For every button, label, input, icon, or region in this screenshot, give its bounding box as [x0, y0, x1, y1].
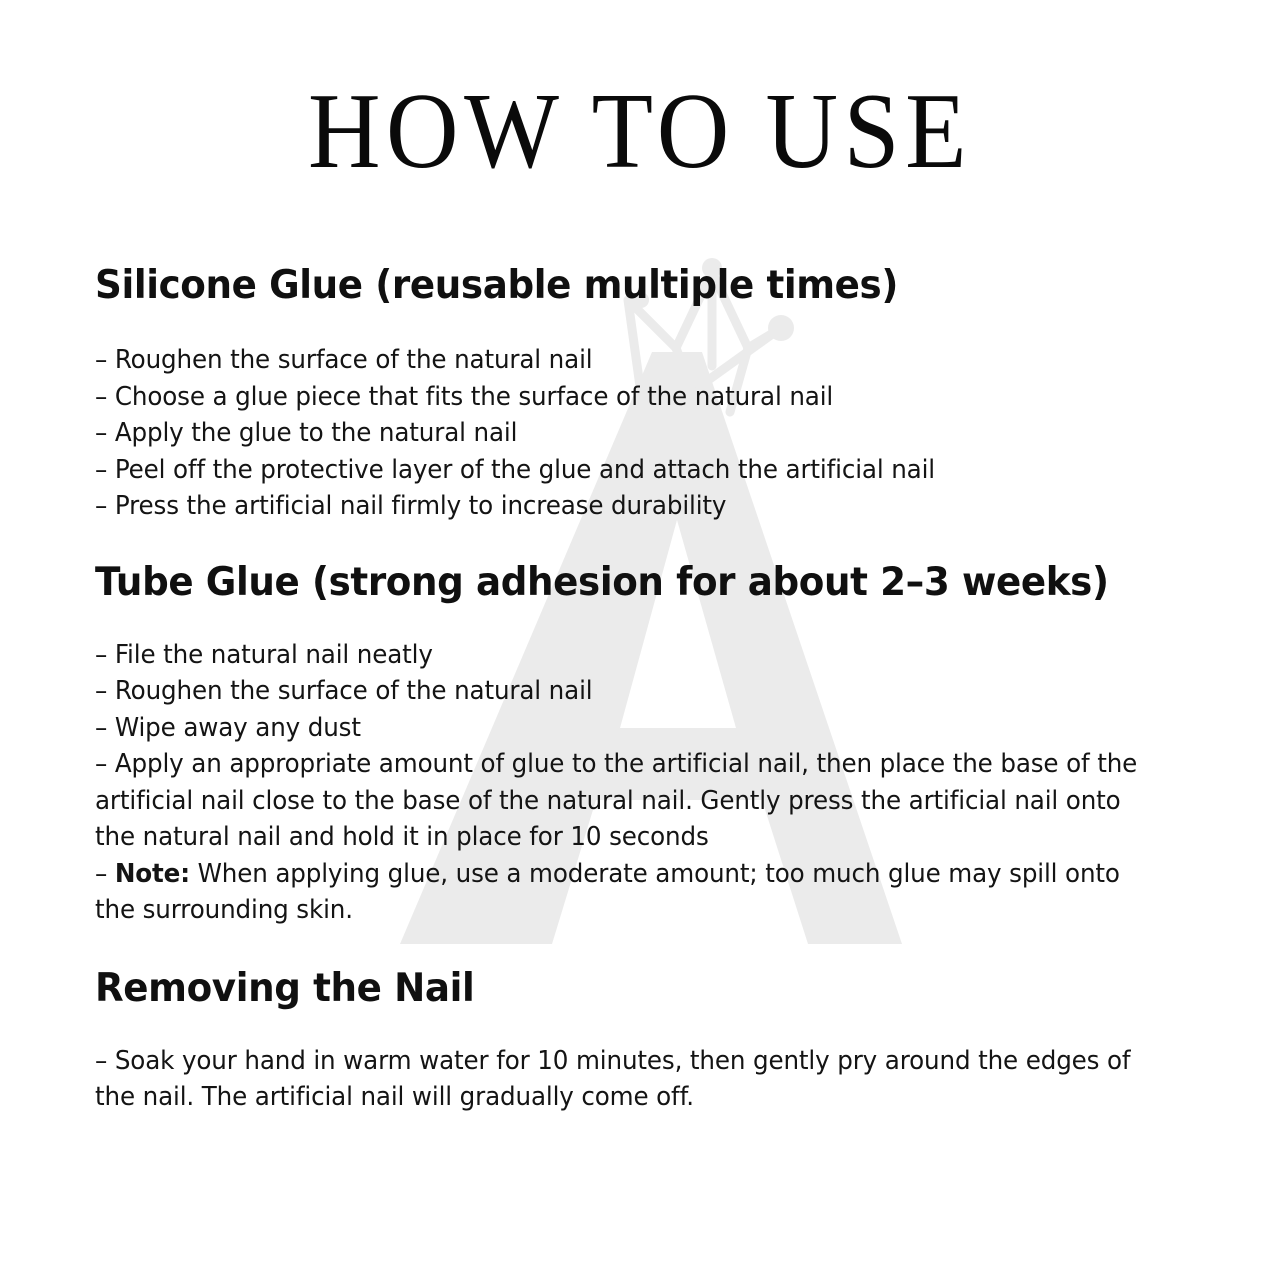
list-item: – Wipe away any dust: [95, 710, 1147, 747]
section-heading-removing-the-nail: Removing the Nail: [95, 965, 1136, 1013]
list-item: – Apply the glue to the natural nail: [95, 415, 1147, 452]
list-silicone-glue: – Roughen the surface of the natural nai…: [95, 342, 1147, 525]
spacer: [95, 607, 1185, 637]
spacer: [95, 525, 1185, 559]
list-item: – Peel off the protective layer of the g…: [95, 452, 1147, 489]
spacer: [95, 929, 1185, 965]
note-label: Note:: [115, 859, 190, 889]
section-heading-tube-glue: Tube Glue (strong adhesion for about 2–3…: [95, 559, 1136, 607]
list-item: – Roughen the surface of the natural nai…: [95, 673, 1147, 710]
list-item: – Soak your hand in warm water for 10 mi…: [95, 1043, 1147, 1116]
note-text: When applying glue, use a moderate amoun…: [95, 859, 1120, 926]
list-tube-glue: – File the natural nail neatly – Roughen…: [95, 637, 1147, 929]
instruction-card: HOW TO USE Silicone Glue (reusable multi…: [0, 0, 1280, 1280]
note-dash: –: [95, 859, 115, 889]
list-removing-the-nail: – Soak your hand in warm water for 10 mi…: [95, 1043, 1147, 1116]
instructions-body: Silicone Glue (reusable multiple times) …: [95, 262, 1185, 1116]
page-title: HOW TO USE: [45, 78, 1235, 186]
list-item: – Press the artificial nail firmly to in…: [95, 488, 1147, 525]
spacer: [95, 1013, 1185, 1043]
list-item: – File the natural nail neatly: [95, 637, 1147, 674]
section-heading-silicone-glue: Silicone Glue (reusable multiple times): [95, 262, 1136, 310]
spacer: [95, 310, 1185, 342]
list-item: – Apply an appropriate amount of glue to…: [95, 746, 1147, 856]
list-item: – Choose a glue piece that fits the surf…: [95, 379, 1147, 416]
list-item: – Roughen the surface of the natural nai…: [95, 342, 1147, 379]
note-item: – Note: When applying glue, use a modera…: [95, 856, 1147, 929]
